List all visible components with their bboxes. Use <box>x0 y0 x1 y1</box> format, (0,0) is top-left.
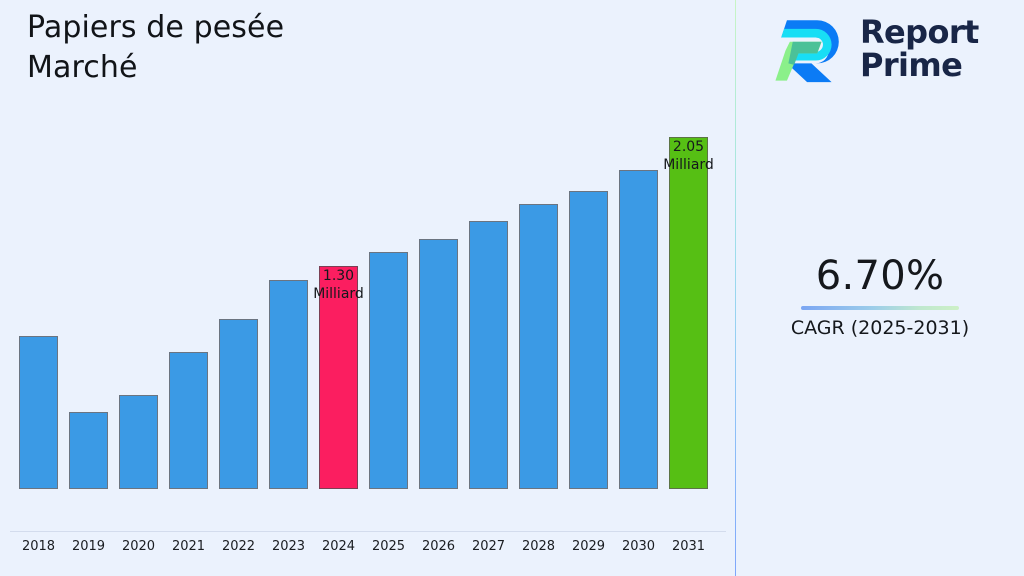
bar-2026 <box>419 239 458 489</box>
x-tick-label-2031: 2031 <box>659 538 719 556</box>
infographic-root: Papiers de pesée Marché 1.30 Milliard2.0… <box>0 0 1024 576</box>
bar-2020 <box>119 395 158 489</box>
bar-2030 <box>619 170 658 489</box>
bar-chart-plot-area: 1.30 Milliard2.05 Milliard <box>0 0 736 533</box>
bar-value-label-2024: 1.30 Milliard <box>284 267 394 303</box>
brand-lockup: Report Prime <box>774 12 979 86</box>
chart-panel: Papiers de pesée Marché 1.30 Milliard2.0… <box>0 0 736 576</box>
cagr-divider-rule <box>801 306 959 310</box>
bar-2027 <box>469 221 508 489</box>
bar-2021 <box>169 352 208 489</box>
report-prime-logo-icon <box>774 12 846 86</box>
brand-wordmark: Report Prime <box>860 16 979 82</box>
bar-2029 <box>569 191 608 489</box>
bar-2019 <box>69 412 108 489</box>
bar-2031 <box>669 137 708 489</box>
bar-value-label-2031: 2.05 Milliard <box>634 138 744 174</box>
side-panel: Report Prime 6.70% CAGR (2025-2031) <box>736 0 1024 576</box>
bar-2023 <box>269 280 308 489</box>
x-axis-baseline <box>10 531 726 532</box>
cagr-block: 6.70% CAGR (2025-2031) <box>736 252 1024 340</box>
bar-2018 <box>19 336 58 489</box>
bar-2028 <box>519 204 558 489</box>
cagr-caption: CAGR (2025-2031) <box>736 316 1024 340</box>
cagr-value: 6.70% <box>736 252 1024 300</box>
bar-2022 <box>219 319 258 489</box>
